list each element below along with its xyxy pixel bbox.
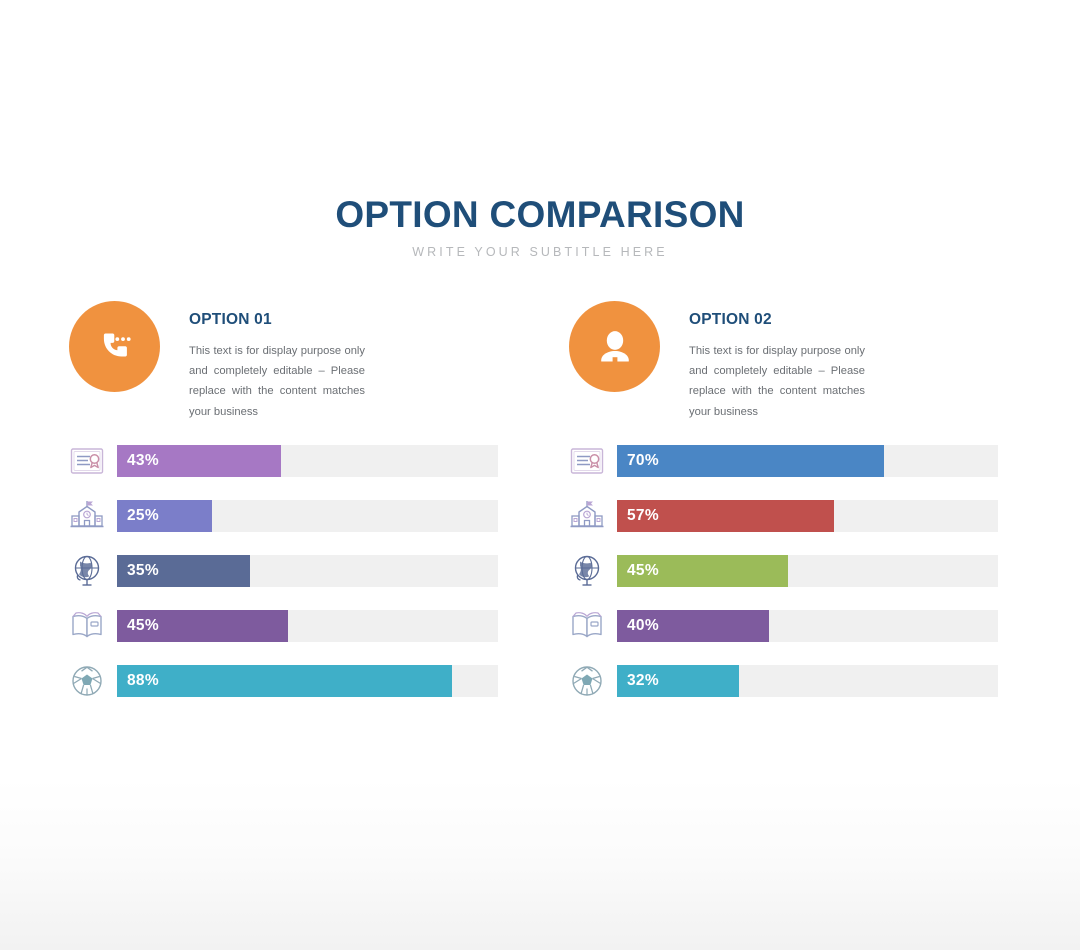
page-title: OPTION COMPARISON (0, 196, 1080, 233)
bar-list-2: 70% (569, 440, 999, 715)
bar-fill: 70% (617, 445, 884, 477)
bar-value-label: 57% (617, 507, 659, 525)
bar-row: 43% (69, 440, 499, 495)
bar-track: 88% (117, 665, 498, 697)
school-icon (69, 498, 105, 534)
bar-track: 32% (617, 665, 998, 697)
bar-row: 32% (569, 660, 999, 715)
bar-track: 35% (117, 555, 498, 587)
certificate-icon (69, 443, 105, 479)
globe-icon (69, 553, 105, 589)
bar-track: 25% (117, 500, 498, 532)
bar-fill: 25% (117, 500, 212, 532)
option-intro-2: OPTION 02 This text is for display purpo… (569, 301, 999, 441)
header: OPTION COMPARISON WRITE YOUR SUBTITLE HE… (0, 196, 1080, 259)
phone-call-icon (92, 324, 138, 370)
bar-value-label: 40% (617, 617, 659, 635)
bar-row: 25% (69, 495, 499, 550)
page-subtitle: WRITE YOUR SUBTITLE HERE (0, 246, 1080, 259)
bar-fill: 40% (617, 610, 769, 642)
option-column-2: OPTION 02 This text is for display purpo… (569, 301, 999, 441)
bar-value-label: 43% (117, 452, 159, 470)
open-book-icon (569, 608, 605, 644)
option-description-2: This text is for display purpose only an… (689, 341, 865, 423)
bar-value-label: 45% (617, 562, 659, 580)
soccer-ball-icon (69, 663, 105, 699)
user-avatar-icon (592, 324, 638, 370)
bar-value-label: 88% (117, 672, 159, 690)
bar-row: 40% (569, 605, 999, 660)
bar-track: 57% (617, 500, 998, 532)
bar-value-label: 35% (117, 562, 159, 580)
bar-row: 45% (569, 550, 999, 605)
bar-row: 70% (569, 440, 999, 495)
bar-fill: 35% (117, 555, 250, 587)
bar-row: 45% (69, 605, 499, 660)
option-badge-1 (69, 301, 160, 392)
globe-icon (569, 553, 605, 589)
bar-row: 88% (69, 660, 499, 715)
bar-fill: 43% (117, 445, 281, 477)
bar-track: 45% (117, 610, 498, 642)
bar-fill: 88% (117, 665, 452, 697)
bar-row: 35% (69, 550, 499, 605)
bar-fill: 45% (117, 610, 288, 642)
option-column-1: OPTION 01 This text is for display purpo… (69, 301, 499, 441)
slide-canvas: OPTION COMPARISON WRITE YOUR SUBTITLE HE… (0, 0, 1080, 950)
bar-track: 40% (617, 610, 998, 642)
certificate-icon (569, 443, 605, 479)
option-intro-1: OPTION 01 This text is for display purpo… (69, 301, 499, 441)
bar-value-label: 45% (117, 617, 159, 635)
bar-row: 57% (569, 495, 999, 550)
school-icon (569, 498, 605, 534)
option-badge-2 (569, 301, 660, 392)
bar-track: 45% (617, 555, 998, 587)
option-text-2: OPTION 02 This text is for display purpo… (689, 312, 865, 422)
bar-value-label: 70% (617, 452, 659, 470)
bar-track: 43% (117, 445, 498, 477)
soccer-ball-icon (569, 663, 605, 699)
bar-fill: 45% (617, 555, 788, 587)
bar-fill: 32% (617, 665, 739, 697)
bar-value-label: 25% (117, 507, 159, 525)
open-book-icon (69, 608, 105, 644)
option-text-1: OPTION 01 This text is for display purpo… (189, 312, 365, 422)
bar-list-1: 43% (69, 440, 499, 715)
bar-fill: 57% (617, 500, 834, 532)
option-title-2: OPTION 02 (689, 312, 865, 328)
option-title-1: OPTION 01 (189, 312, 365, 328)
bar-track: 70% (617, 445, 998, 477)
bar-value-label: 32% (617, 672, 659, 690)
option-description-1: This text is for display purpose only an… (189, 341, 365, 423)
